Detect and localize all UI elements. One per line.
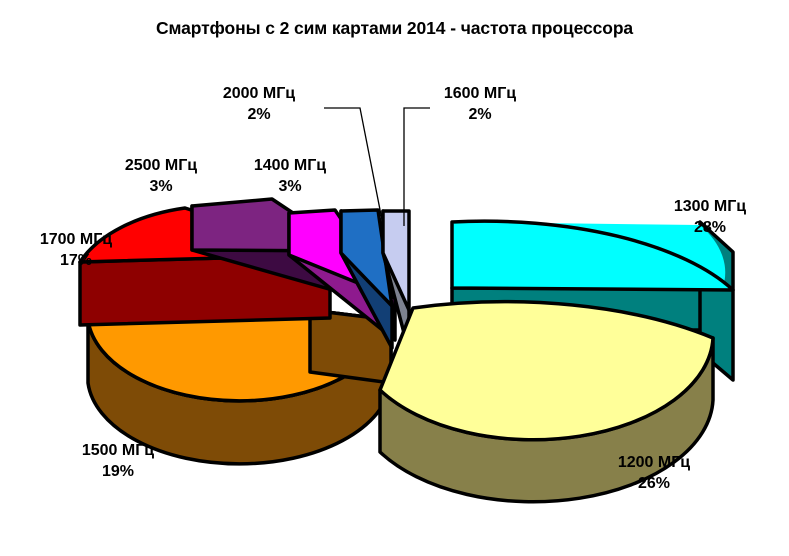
slice-label-1400: 1400 МГц 3%: [224, 155, 356, 197]
slice-label-1300-percent: 28%: [644, 217, 776, 238]
slice-label-1500: 1500 МГц 19%: [52, 440, 184, 482]
slice-label-2000-percent: 2%: [193, 104, 325, 125]
slice-label-2500-name: 2500 МГц: [95, 155, 227, 176]
slice-label-1700: 1700 МГц 17%: [10, 229, 142, 271]
slice-label-1700-percent: 17%: [10, 250, 142, 271]
slice-label-1600: 1600 МГц 2%: [414, 83, 546, 125]
slice-label-1200: 1200 МГц 26%: [588, 452, 720, 494]
slice-label-1200-name: 1200 МГц: [588, 452, 720, 473]
slice-label-2500: 2500 МГц 3%: [95, 155, 227, 197]
slice-label-1500-name: 1500 МГц: [52, 440, 184, 461]
slice-label-2000-name: 2000 МГц: [193, 83, 325, 104]
slice-label-1700-name: 1700 МГц: [10, 229, 142, 250]
slice-label-2000: 2000 МГц 2%: [193, 83, 325, 125]
slice-label-1300-name: 1300 МГц: [644, 196, 776, 217]
slice-label-1300: 1300 МГц 28%: [644, 196, 776, 238]
slice-label-1600-percent: 2%: [414, 104, 546, 125]
slice-label-1400-name: 1400 МГц: [224, 155, 356, 176]
slice-label-1200-percent: 26%: [588, 473, 720, 494]
slice-label-2500-percent: 3%: [95, 176, 227, 197]
slice-label-1400-percent: 3%: [224, 176, 356, 197]
leader-line-1600: [404, 108, 430, 226]
pie-chart-figure: Смартфоны с 2 сим картами 2014 - частота…: [0, 0, 789, 556]
slice-label-1600-name: 1600 МГц: [414, 83, 546, 104]
slice-label-1500-percent: 19%: [52, 461, 184, 482]
